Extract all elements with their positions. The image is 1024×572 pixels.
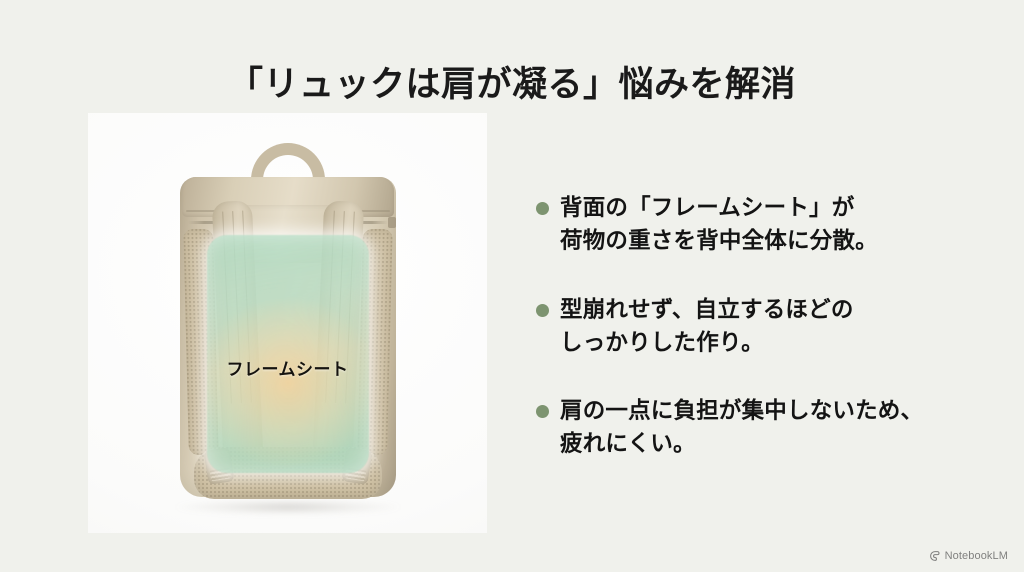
watermark-label: NotebookLM (945, 550, 1008, 562)
zipper-pull-icon (388, 217, 396, 228)
watermark: NotebookLM (929, 550, 1008, 562)
list-item: 背面の「フレームシート」が 荷物の重さを背中全体に分散。 (536, 192, 986, 258)
list-item: 肩の一点に負担が集中しないため、 疲れにくい。 (536, 395, 986, 461)
list-item-label: 肩の一点に負担が集中しないため、 疲れにくい。 (560, 395, 923, 461)
bullet-dot-icon (536, 202, 549, 215)
list-item-label: 型崩れせず、自立するほどの しっかりした作り。 (560, 294, 854, 360)
backpack-illustration: フレームシート (172, 143, 404, 509)
page-title: 「リュックは肩が凝る」悩みを解消 (0, 63, 1024, 107)
list-item-label: 背面の「フレームシート」が 荷物の重さを背中全体に分散。 (560, 192, 878, 258)
frame-sheet-highlight-overlay (207, 235, 369, 473)
bullet-dot-icon (536, 405, 549, 418)
photo-stage: フレームシート (88, 113, 487, 533)
frame-sheet-label: フレームシート (227, 355, 349, 380)
product-image-panel: フレームシート (88, 113, 487, 533)
bullet-list: 背面の「フレームシート」が 荷物の重さを背中全体に分散。 型崩れせず、自立するほ… (536, 192, 986, 461)
list-item: 型崩れせず、自立するほどの しっかりした作り。 (536, 294, 986, 360)
bullet-dot-icon (536, 304, 549, 317)
slide: 「リュックは肩が凝る」悩みを解消 (0, 0, 1024, 572)
notebooklm-spiral-icon (929, 550, 941, 562)
